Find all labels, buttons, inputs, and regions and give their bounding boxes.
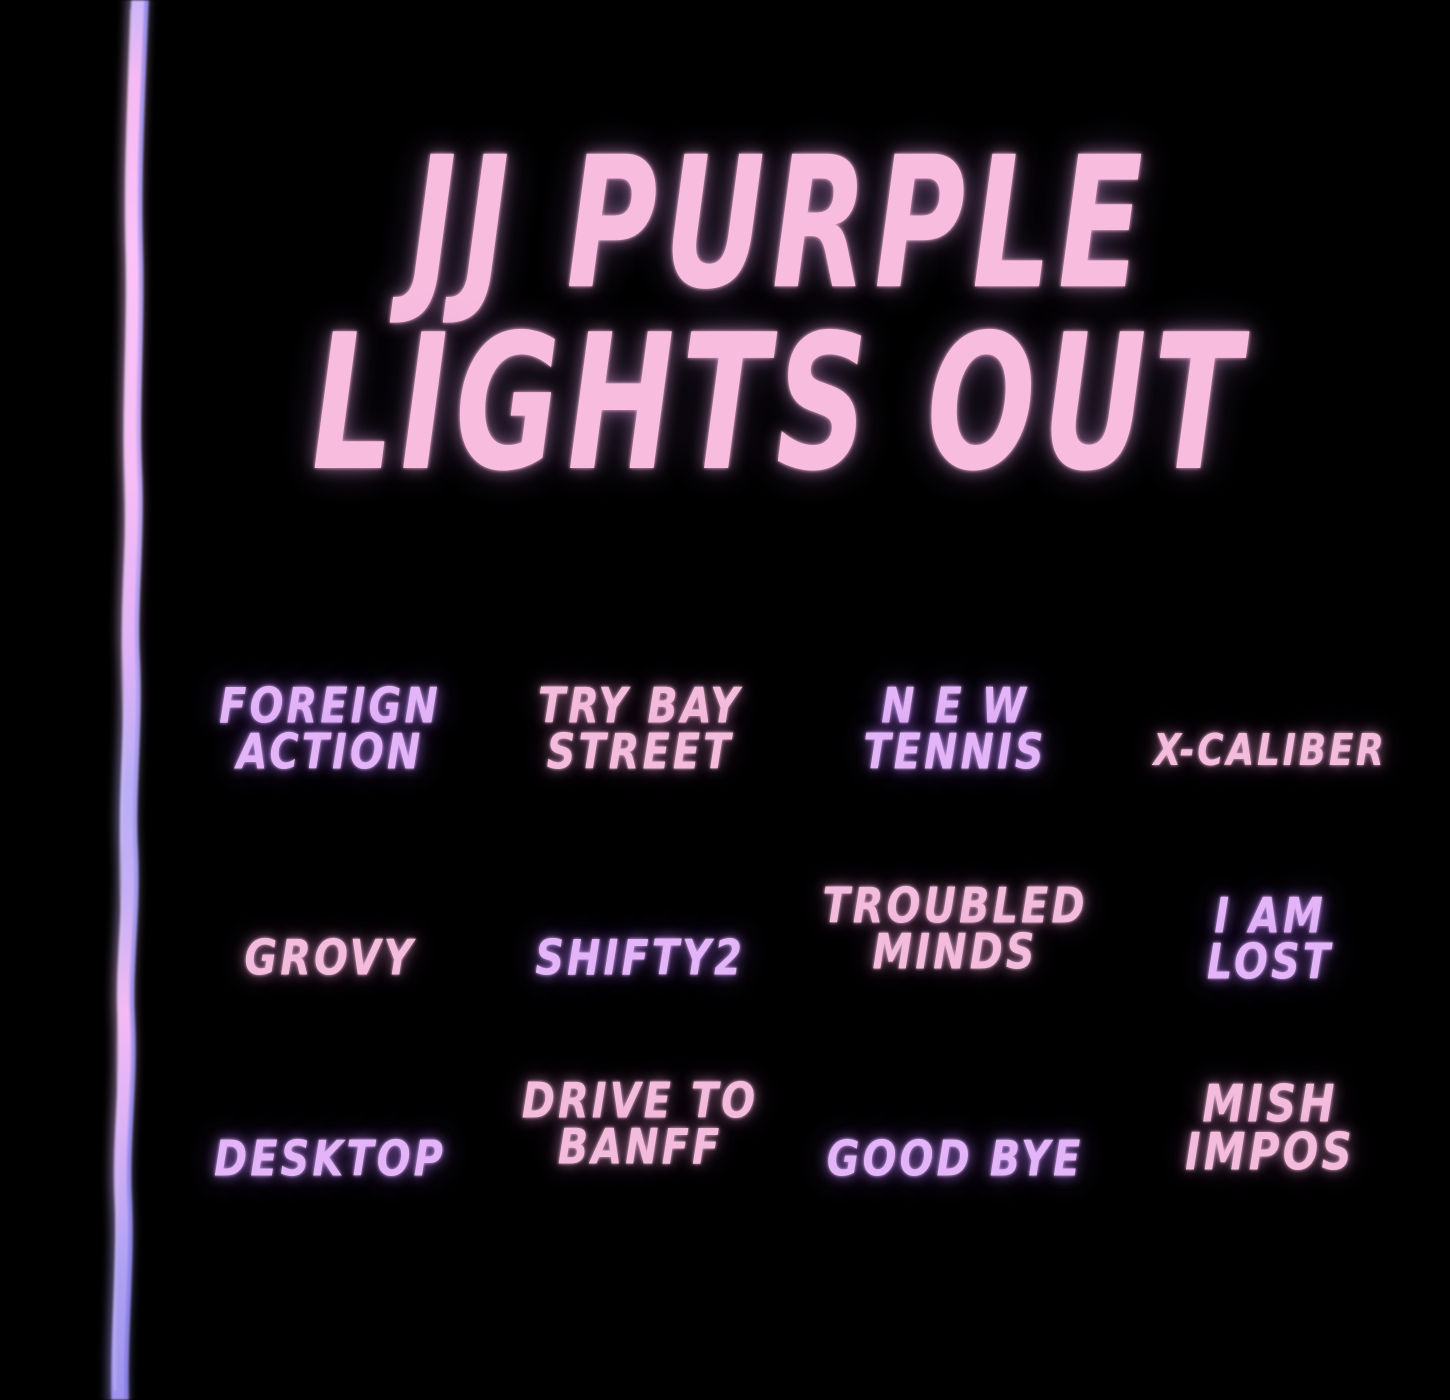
- track-line: STREET: [547, 726, 734, 782]
- track-line: GOOD BYE: [827, 1133, 1084, 1189]
- track-item: GROVY: [180, 880, 480, 1075]
- page-title: JJ PURPLE LIGHTS OUT: [250, 140, 1310, 440]
- track-item: DRIVE TO BANFF: [490, 1075, 790, 1270]
- title-line-1: JJ PURPLE: [266, 140, 1294, 311]
- tracklist-grid: FOREIGN ACTION TRY BAY STREET N E W TENN…: [180, 680, 1430, 1270]
- track-item: TROUBLED MINDS: [800, 880, 1110, 1075]
- track-line: BANFF: [558, 1121, 723, 1177]
- track-item: X-CALIBER: [1120, 680, 1420, 880]
- title-line-2: LIGHTS OUT: [266, 316, 1294, 492]
- track-item: TRY BAY STREET: [490, 680, 790, 880]
- track-line: SHIFTY2: [535, 932, 745, 988]
- track-line: LOST: [1207, 936, 1333, 992]
- track-line: MINDS: [872, 926, 1037, 982]
- track-item: FOREIGN ACTION: [180, 680, 480, 880]
- track-item: DESKTOP: [180, 1075, 480, 1270]
- track-item: N E W TENNIS: [800, 680, 1110, 880]
- track-item: I AM LOST: [1120, 880, 1420, 1075]
- track-line: GROVY: [244, 932, 415, 988]
- album-poster: JJ PURPLE LIGHTS OUT FOREIGN ACTION TRY …: [0, 0, 1450, 1400]
- track-line: TENNIS: [863, 726, 1046, 782]
- track-line: X-CALIBER: [1153, 726, 1386, 776]
- track-item: GOOD BYE: [800, 1075, 1110, 1270]
- track-line: IMPOS: [1185, 1123, 1355, 1181]
- track-line: DESKTOP: [214, 1133, 446, 1189]
- track-item: MISH IMPOS: [1120, 1075, 1420, 1270]
- track-line: ACTION: [237, 726, 424, 782]
- track-item: SHIFTY2: [490, 880, 790, 1075]
